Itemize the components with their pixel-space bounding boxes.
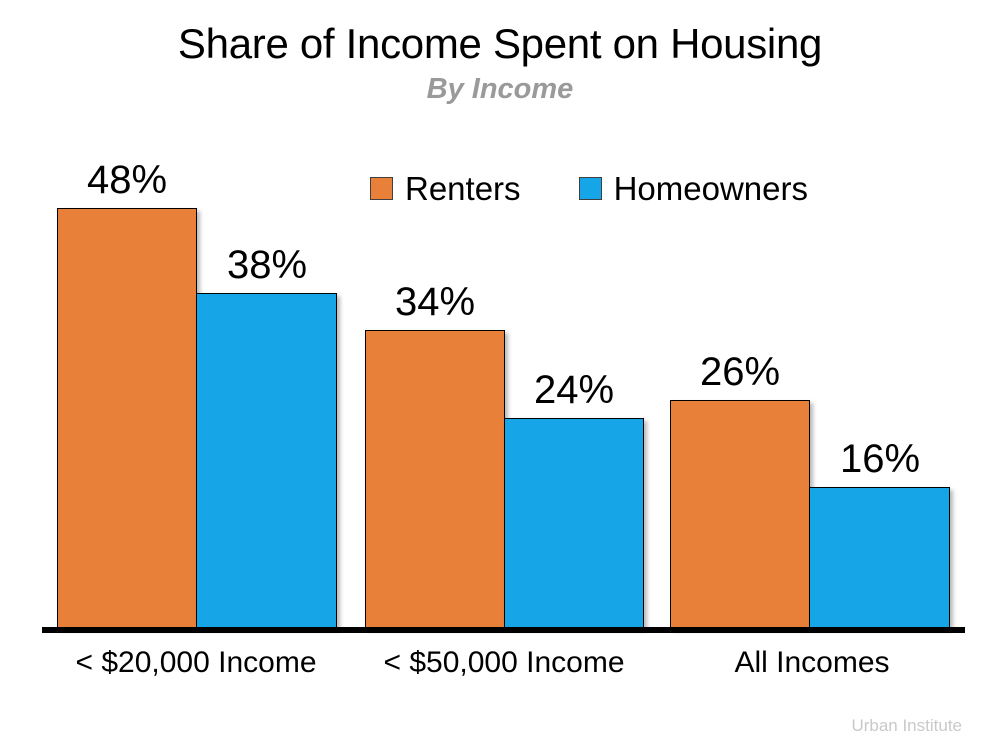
category-label-all-incomes: All Incomes bbox=[734, 648, 889, 678]
bar-value-homeowners-lt-50000: 24% bbox=[534, 370, 614, 410]
bar-homeowners-lt-20000[interactable] bbox=[196, 293, 337, 628]
category-label-lt-50000: < $50,000 Income bbox=[383, 648, 624, 678]
bar-renters-all-incomes[interactable] bbox=[670, 400, 810, 628]
bar-value-renters-lt-20000: 48% bbox=[87, 160, 167, 200]
bar-homeowners-lt-50000[interactable] bbox=[504, 418, 644, 628]
plot-area: 48% 38% 34% 24% 26% 16% < $20,000 Income… bbox=[0, 0, 1000, 750]
axis-baseline bbox=[42, 627, 965, 633]
bar-value-renters-all-incomes: 26% bbox=[700, 352, 780, 392]
source-attribution: Urban Institute bbox=[851, 717, 962, 734]
bar-renters-lt-20000[interactable] bbox=[57, 208, 197, 628]
category-label-lt-20000: < $20,000 Income bbox=[75, 648, 316, 678]
bar-value-renters-lt-50000: 34% bbox=[395, 282, 475, 322]
bar-renters-lt-50000[interactable] bbox=[365, 330, 505, 628]
bar-value-homeowners-all-incomes: 16% bbox=[840, 439, 920, 479]
bar-value-homeowners-lt-20000: 38% bbox=[227, 245, 307, 285]
bar-homeowners-all-incomes[interactable] bbox=[809, 487, 950, 628]
bar-chart: Share of Income Spent on Housing By Inco… bbox=[0, 0, 1000, 750]
